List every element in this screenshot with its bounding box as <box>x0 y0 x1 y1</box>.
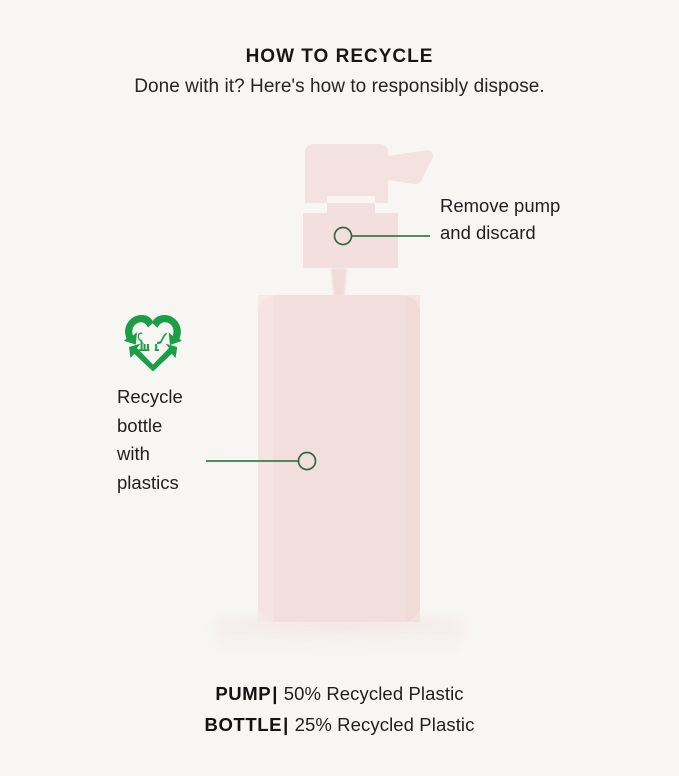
callout-dot-pump <box>335 228 352 245</box>
callout-bottle <box>206 453 316 470</box>
pump-collar <box>303 203 398 268</box>
footer-row-bottle-separator: | <box>282 714 289 735</box>
header: HOW TO RECYCLE Done with it? Here's how … <box>0 44 679 100</box>
footer-row-pump-label: PUMP <box>215 683 271 704</box>
page-subtitle: Done with it? Here's how to responsibly … <box>0 74 679 100</box>
annotation-recycle-bottle-line-2: bottle <box>117 412 221 441</box>
footer-row-bottle-value: 25% Recycled Plastic <box>295 714 475 735</box>
page-title: HOW TO RECYCLE <box>0 44 679 70</box>
callout-pump <box>335 228 431 245</box>
recycle-heart-dog-icon <box>119 308 187 376</box>
material-composition-footer: PUMP| 50% Recycled Plastic BOTTLE| 25% R… <box>0 678 679 740</box>
pump-head <box>305 144 388 203</box>
annotation-recycle-bottle-line-4: plastics <box>117 469 221 498</box>
annotation-recycle-bottle: Recycle bottle with plastics <box>117 383 221 497</box>
annotation-remove-pump-line-2: and discard <box>440 219 640 246</box>
pump-bottle-illustration <box>0 0 679 776</box>
pump-stem <box>331 268 347 300</box>
bottle-shadow <box>211 613 467 668</box>
annotation-remove-pump-line-1: Remove pump <box>440 192 640 219</box>
annotation-remove-pump: Remove pump and discard <box>440 192 640 246</box>
bottle-body <box>258 295 420 622</box>
footer-row-bottle-label: BOTTLE <box>204 714 282 735</box>
pump-nozzle <box>388 150 433 184</box>
footer-row-pump: PUMP| 50% Recycled Plastic <box>0 678 679 709</box>
callout-lines-layer <box>0 0 679 776</box>
annotation-recycle-bottle-line-3: with <box>117 440 221 469</box>
footer-row-pump-separator: | <box>271 683 278 704</box>
footer-row-pump-value: 50% Recycled Plastic <box>284 683 464 704</box>
callout-dot-bottle <box>299 453 316 470</box>
footer-row-bottle: BOTTLE| 25% Recycled Plastic <box>0 709 679 740</box>
infographic-canvas: HOW TO RECYCLE Done with it? Here's how … <box>0 0 679 776</box>
annotation-recycle-bottle-line-1: Recycle <box>117 383 221 412</box>
